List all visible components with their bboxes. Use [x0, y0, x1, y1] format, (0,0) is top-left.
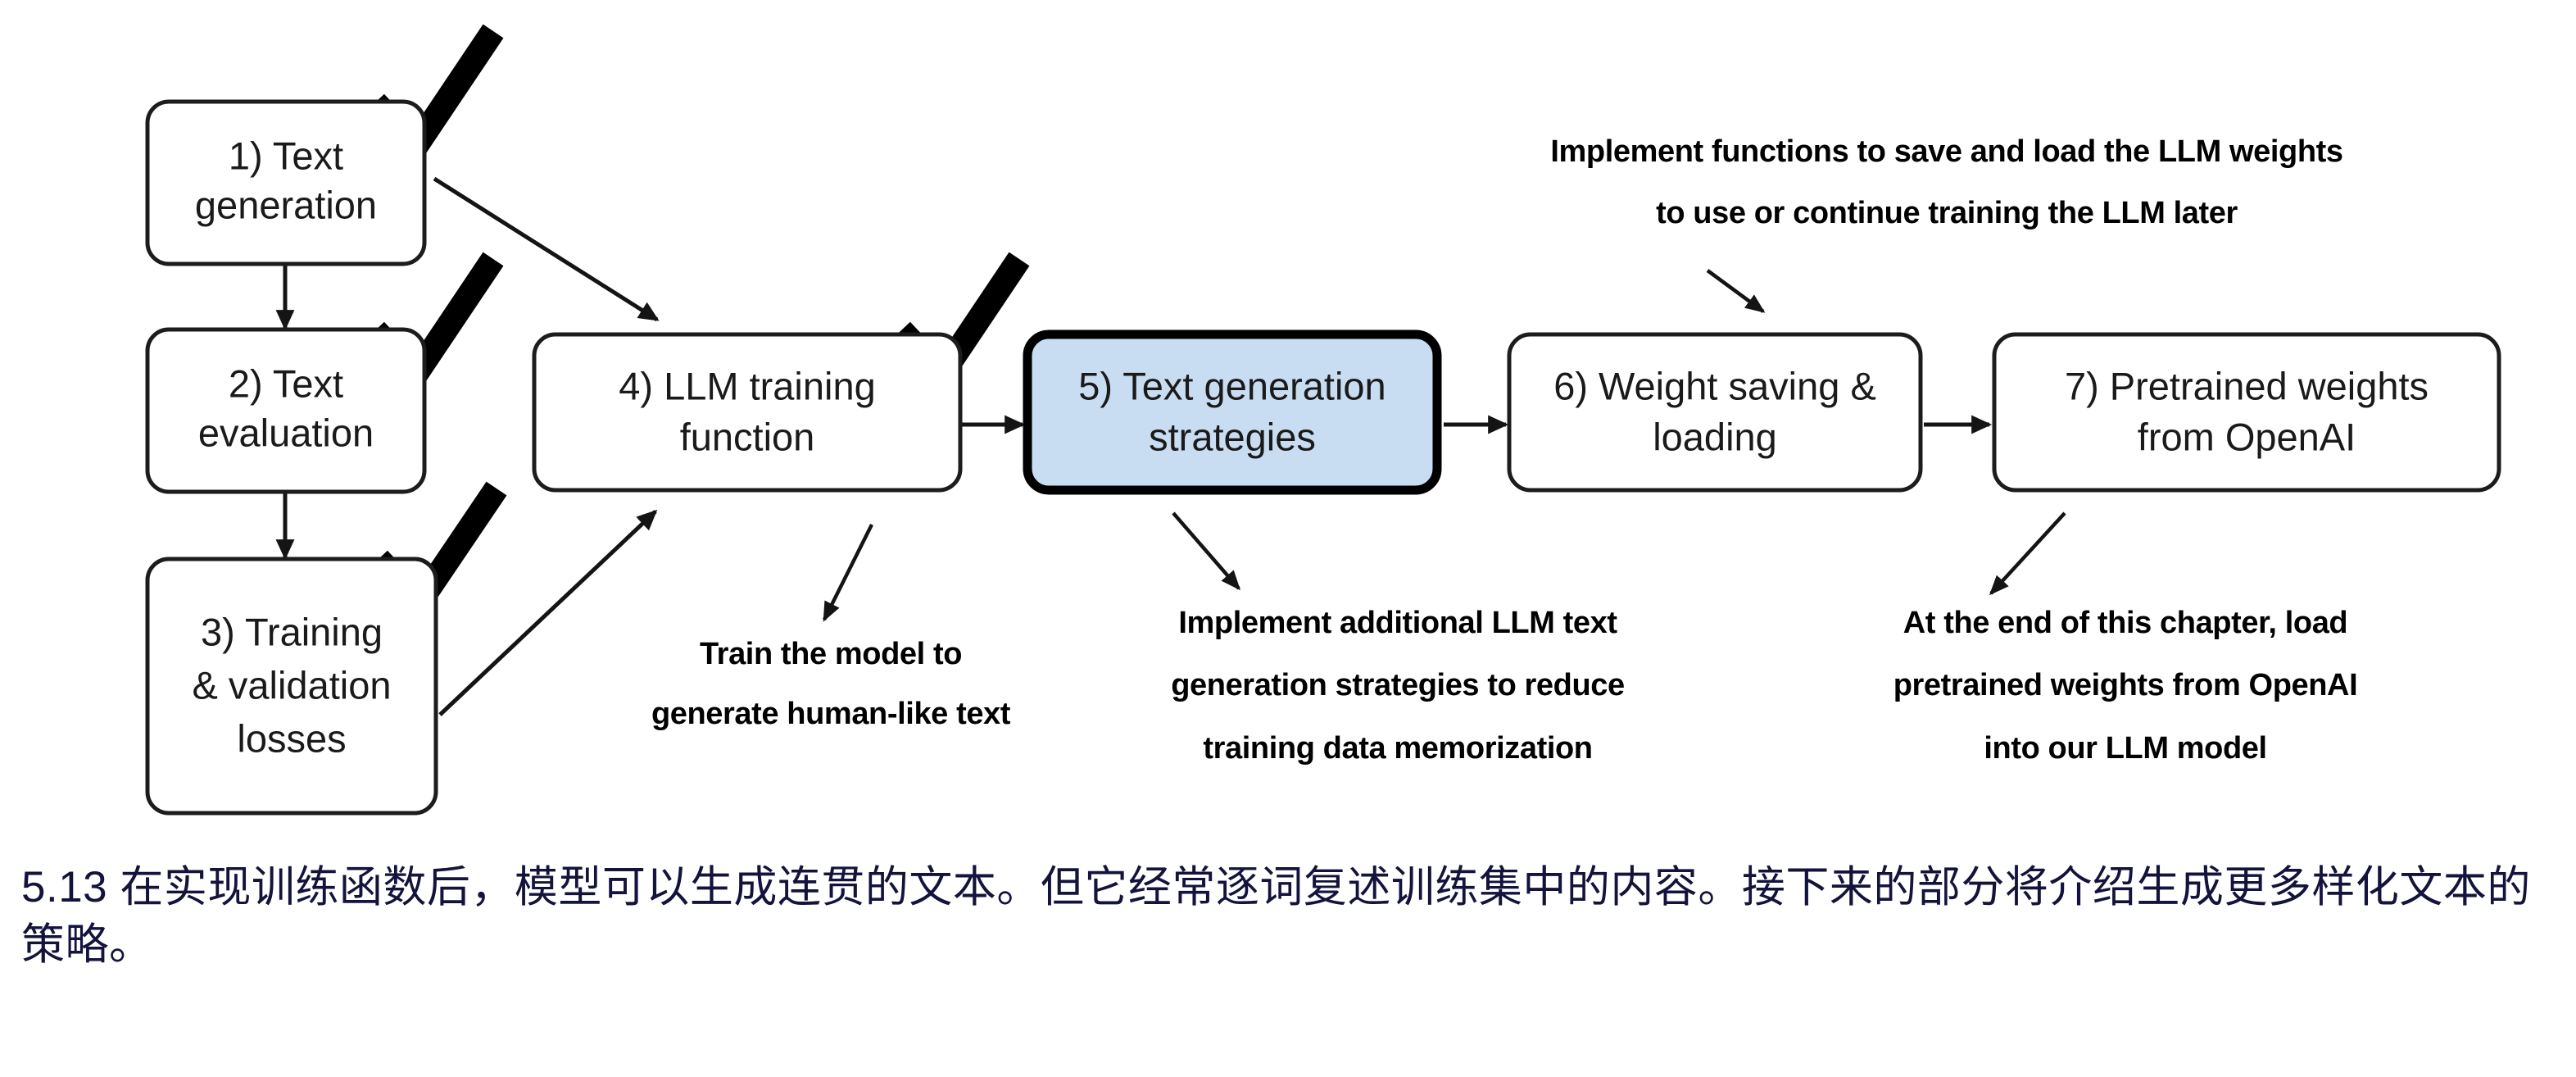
- node-step6-box[interactable]: [1509, 334, 1921, 490]
- leader-anno-weights: [1708, 270, 1763, 311]
- node-step4[interactable]: 4) LLM training function: [534, 334, 960, 490]
- node-step5-line2: strategies: [1149, 415, 1316, 458]
- node-step2-line1: 2) Text: [229, 361, 343, 405]
- leader-anno-openai: [1991, 513, 2065, 593]
- node-step2[interactable]: 2) Text evaluation: [147, 329, 424, 492]
- node-step1-line1: 1) Text: [229, 134, 343, 177]
- annotation-weights: Implement functions to save and load the…: [1550, 134, 2342, 230]
- figure-root: 1) Text generation 2) Text evaluation 3)…: [0, 0, 2576, 1077]
- node-step5-box[interactable]: [1027, 334, 1437, 490]
- annotation-train: Train the model to generate human-like t…: [651, 637, 1011, 731]
- node-step4-line1: 4) LLM training: [619, 364, 876, 407]
- annotation-strategies-line1: Implement additional LLM text: [1178, 606, 1617, 640]
- node-step3-line3: losses: [237, 716, 346, 760]
- node-step3[interactable]: 3) Training & validation losses: [147, 559, 436, 813]
- figure-caption: 5.13 在实现训练函数后，模型可以生成连贯的文本。但它经常逐词复述训练集中的内…: [0, 859, 2576, 974]
- annotation-strategies-line2: generation strategies to reduce: [1171, 668, 1625, 702]
- node-step7-box[interactable]: [1994, 334, 2499, 490]
- annotation-weights-line2: to use or continue training the LLM late…: [1656, 196, 2238, 230]
- flowchart-diagram: 1) Text generation 2) Text evaluation 3)…: [0, 0, 2576, 852]
- node-step1[interactable]: 1) Text generation: [147, 102, 424, 264]
- annotation-openai-line2: pretrained weights from OpenAI: [1893, 668, 2358, 702]
- annotation-openai-line1: At the end of this chapter, load: [1903, 606, 2347, 640]
- node-step6-line2: loading: [1653, 415, 1777, 458]
- node-step6[interactable]: 6) Weight saving & loading: [1509, 334, 1921, 490]
- node-step7[interactable]: 7) Pretrained weights from OpenAI: [1994, 334, 2499, 490]
- annotation-openai-line3: into our LLM model: [1984, 731, 2266, 766]
- leader-anno-strategies: [1173, 513, 1239, 588]
- annotation-strategies-line3: training data memorization: [1203, 731, 1592, 766]
- annotation-strategies: Implement additional LLM text generation…: [1171, 606, 1625, 766]
- node-step5[interactable]: 5) Text generation strategies: [1027, 334, 1437, 490]
- node-step3-line1: 3) Training: [201, 610, 383, 653]
- node-step7-line1: 7) Pretrained weights: [2065, 364, 2429, 407]
- leader-anno-train: [824, 525, 872, 620]
- node-step2-line2: evaluation: [198, 411, 374, 454]
- node-step7-line2: from OpenAI: [2138, 415, 2356, 458]
- node-step3-line2: & validation: [193, 663, 392, 707]
- annotation-openai: At the end of this chapter, load pretrai…: [1893, 606, 2358, 766]
- node-step5-line1: 5) Text generation: [1078, 364, 1386, 407]
- node-step6-line1: 6) Weight saving &: [1553, 364, 1876, 407]
- annotation-train-line2: generate human-like text: [651, 697, 1011, 731]
- annotation-train-line1: Train the model to: [700, 637, 962, 671]
- node-step4-box[interactable]: [534, 334, 960, 490]
- node-step1-line2: generation: [195, 183, 377, 226]
- annotation-weights-line1: Implement functions to save and load the…: [1550, 134, 2342, 169]
- node-step4-line2: function: [680, 415, 815, 458]
